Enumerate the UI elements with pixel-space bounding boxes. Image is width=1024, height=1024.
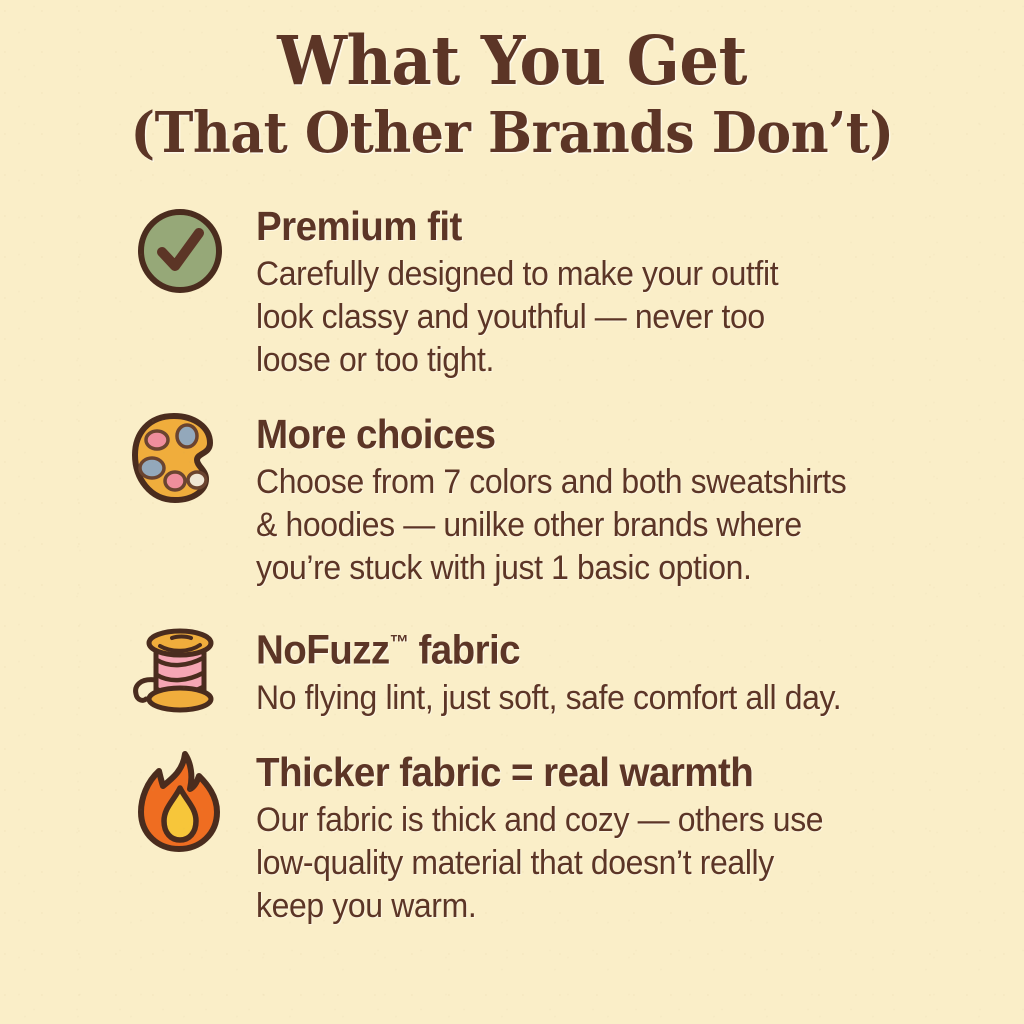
paint-palette-icon — [132, 408, 228, 512]
feature-description-line: you’re stuck with just 1 basic option. — [256, 547, 846, 590]
feature-description-line: Choose from 7 colors and both sweatshirt… — [256, 461, 846, 504]
feature-description: Carefully designed to make your outfit l… — [256, 253, 778, 382]
thread-spool-icon — [132, 616, 228, 720]
list-item: Thicker fabric = real warmth Our fabric … — [132, 746, 954, 928]
check-circle-icon — [132, 200, 228, 304]
promo-graphic: What You Get (That Other Brands Don’t) P… — [0, 0, 1024, 1024]
feature-description-line: keep you warm. — [256, 885, 823, 928]
feature-description-line: loose or too tight. — [256, 339, 778, 382]
feature-body: Premium fit Carefully designed to make y… — [228, 200, 812, 382]
page-title-line-2: (That Other Brands Don’t) — [36, 100, 988, 166]
list-item: Premium fit Carefully designed to make y… — [132, 200, 954, 382]
list-item: NoFuzz™ fabric No flying lint, just soft… — [132, 616, 954, 720]
feature-description-line: look classy and youthful — never too — [256, 296, 778, 339]
feature-description-line: No flying lint, just soft, safe comfort … — [256, 677, 841, 720]
feature-body: NoFuzz™ fabric No flying lint, just soft… — [228, 616, 879, 720]
trademark-icon: ™ — [390, 631, 409, 654]
flame-icon — [132, 746, 228, 850]
feature-body: Thicker fabric = real warmth Our fabric … — [228, 746, 859, 928]
feature-list: Premium fit Carefully designed to make y… — [0, 200, 1024, 928]
feature-title: NoFuzz™ fabric — [256, 618, 841, 675]
feature-description-line: Carefully designed to make your outfit — [256, 253, 778, 296]
list-item: More choices Choose from 7 colors and bo… — [132, 408, 954, 590]
feature-description: Choose from 7 colors and both sweatshirt… — [256, 461, 846, 590]
page-title: What You Get (That Other Brands Don’t) — [0, 0, 1024, 166]
feature-body: More choices Choose from 7 colors and bo… — [228, 408, 884, 590]
feature-title-suffix: fabric — [408, 627, 520, 673]
feature-title: Thicker fabric = real warmth — [256, 748, 823, 797]
feature-description: Our fabric is thick and cozy — others us… — [256, 799, 823, 928]
feature-title-prefix: NoFuzz — [256, 627, 390, 673]
feature-description: No flying lint, just soft, safe comfort … — [256, 677, 841, 720]
feature-description-line: & hoodies — unilke other brands where — [256, 504, 846, 547]
feature-title: Premium fit — [256, 202, 778, 251]
feature-description-line: low-quality material that doesn’t really — [256, 842, 823, 885]
feature-title: More choices — [256, 410, 846, 459]
page-title-line-1: What You Get — [36, 22, 988, 100]
feature-description-line: Our fabric is thick and cozy — others us… — [256, 799, 823, 842]
